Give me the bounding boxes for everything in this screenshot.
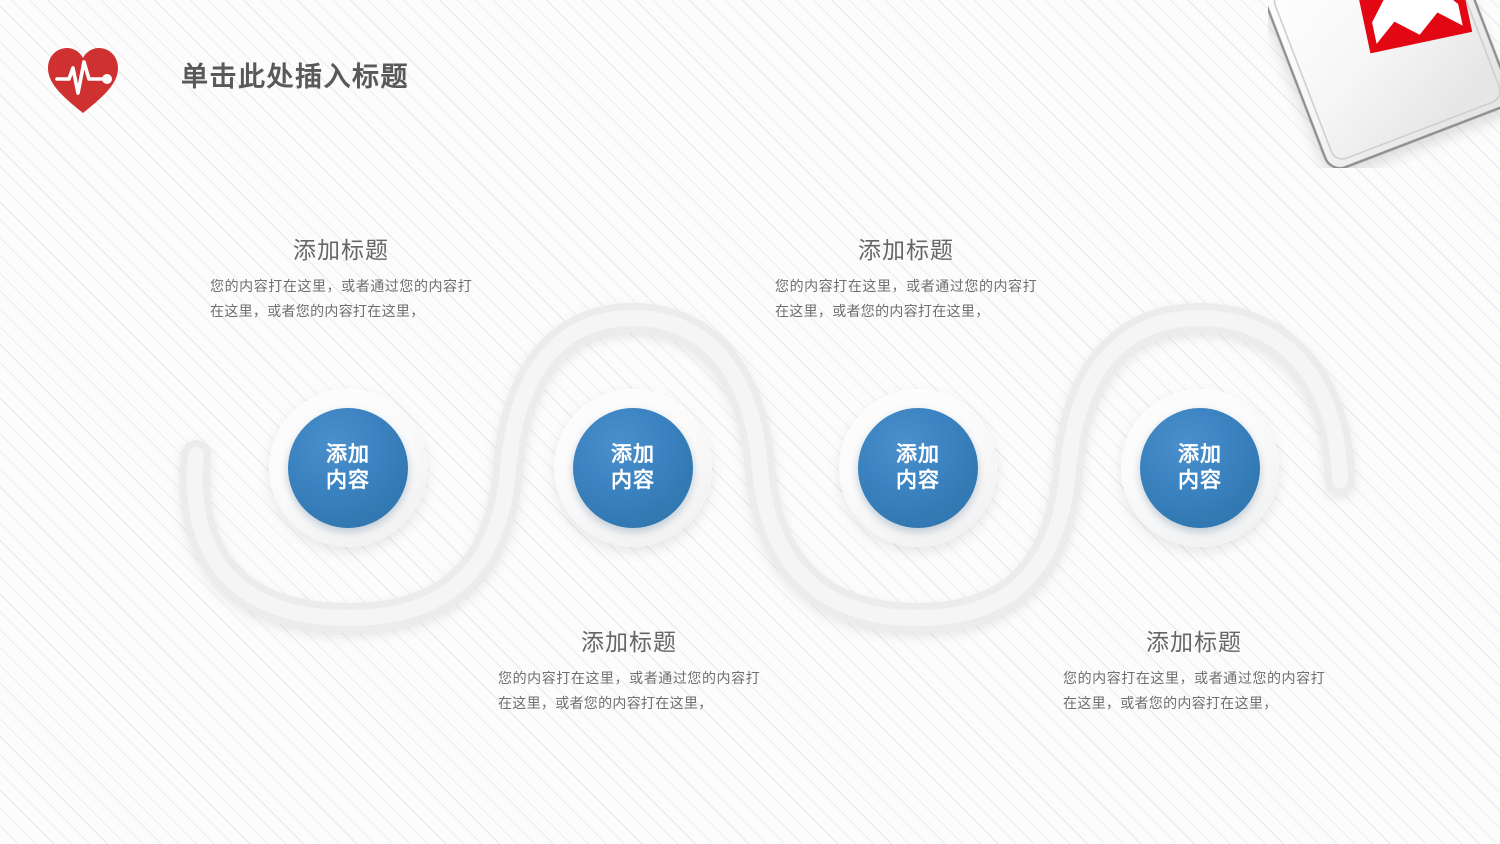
node-circle-1[interactable]: 添加 内容 xyxy=(269,389,427,547)
node-label-line1: 添加 xyxy=(326,442,370,468)
text-block-3[interactable]: 添加标题 您的内容打在这里，或者通过您的内容打在这里，或者您的内容打在这里， xyxy=(775,234,1037,324)
slide-canvas: 单击此处插入标题 添加 内容 xyxy=(0,0,1500,844)
text-block-body: 您的内容打在这里，或者通过您的内容打在这里，或者您的内容打在这里， xyxy=(210,274,472,324)
node-disc[interactable]: 添加 内容 xyxy=(858,408,978,528)
text-block-title: 添加标题 xyxy=(498,626,760,658)
node-label-line1: 添加 xyxy=(611,442,655,468)
node-circle-3[interactable]: 添加 内容 xyxy=(839,389,997,547)
node-circle-2[interactable]: 添加 内容 xyxy=(554,389,712,547)
text-block-body: 您的内容打在这里，或者通过您的内容打在这里，或者您的内容打在这里， xyxy=(775,274,1037,324)
text-block-title: 添加标题 xyxy=(210,234,472,266)
text-block-1[interactable]: 添加标题 您的内容打在这里，或者通过您的内容打在这里，或者您的内容打在这里， xyxy=(210,234,472,324)
node-disc[interactable]: 添加 内容 xyxy=(573,408,693,528)
node-label-line1: 添加 xyxy=(1178,442,1222,468)
text-block-2[interactable]: 添加标题 您的内容打在这里，或者通过您的内容打在这里，或者您的内容打在这里， xyxy=(498,626,760,716)
node-disc[interactable]: 添加 内容 xyxy=(1140,408,1260,528)
node-label-line1: 添加 xyxy=(896,442,940,468)
node-label-line2: 内容 xyxy=(611,468,655,494)
node-disc[interactable]: 添加 内容 xyxy=(288,408,408,528)
text-block-4[interactable]: 添加标题 您的内容打在这里，或者通过您的内容打在这里，或者您的内容打在这里， xyxy=(1063,626,1325,716)
heart-pulse-icon xyxy=(47,46,119,116)
node-label-line2: 内容 xyxy=(326,468,370,494)
text-block-body: 您的内容打在这里，或者通过您的内容打在这里，或者您的内容打在这里， xyxy=(1063,666,1325,716)
text-block-title: 添加标题 xyxy=(775,234,1037,266)
node-label-line2: 内容 xyxy=(896,468,940,494)
page-title: 单击此处插入标题 xyxy=(181,58,409,96)
text-block-body: 您的内容打在这里，或者通过您的内容打在这里，或者您的内容打在这里， xyxy=(498,666,760,716)
text-block-title: 添加标题 xyxy=(1063,626,1325,658)
node-label-line2: 内容 xyxy=(1178,468,1222,494)
node-circle-4[interactable]: 添加 内容 xyxy=(1121,389,1279,547)
first-aid-kit-icon xyxy=(1268,0,1500,168)
